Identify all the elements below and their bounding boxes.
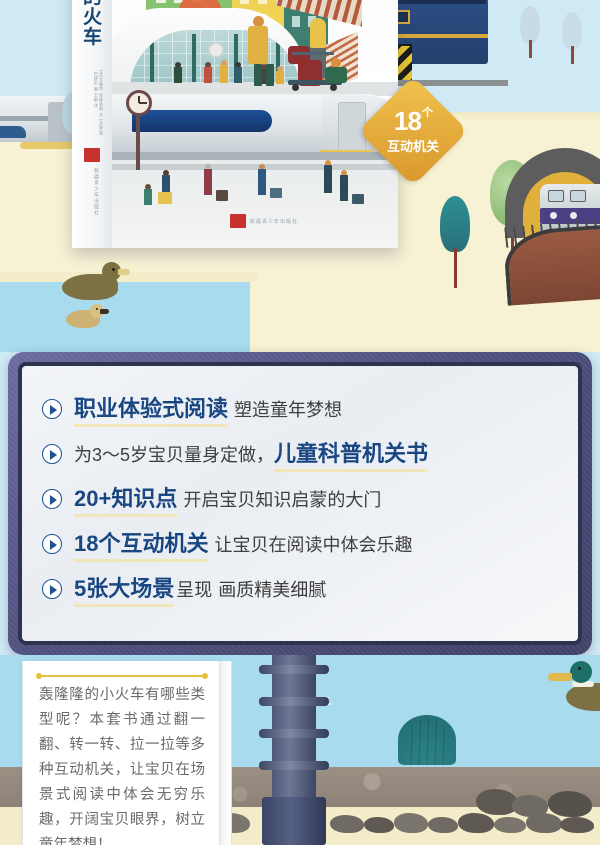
feature-item: 18个互动机关 让宝贝在阅读中体会乐趣 xyxy=(38,521,568,566)
description-card: 轰隆隆的小火车有哪些类型呢？本套书通过翻一翻、转一转、拉一拉等多种互动机关，让宝… xyxy=(22,661,220,845)
feature-highlight: 儿童科普机关书 xyxy=(274,436,428,472)
cover-publisher-text: 新疆青少年出版社 xyxy=(250,218,298,225)
book-spine-title: 的 火车 xyxy=(78,0,108,48)
tree-icon xyxy=(562,12,582,64)
arrow-circle-icon xyxy=(42,444,62,464)
book-cover: 的 火车 [法]文森特·库维利耶 文 [法]罗南·巴德尔 图 王娟 译 新疆青少… xyxy=(72,0,398,248)
feature-item: 5张大场景 呈现 画质精美细腻 xyxy=(38,566,568,611)
card-side-strip xyxy=(220,661,232,845)
arrow-circle-icon xyxy=(42,399,62,419)
feature-rest: 画质精美细腻 xyxy=(218,576,326,602)
arrow-circle-icon xyxy=(42,534,62,554)
feature-prefix: 为3～5岁宝贝量身定做， xyxy=(74,441,274,467)
book-spine: 的 火车 [法]文森特·库维利耶 文 [法]罗南·巴德尔 图 王娟 译 新疆青少… xyxy=(72,0,112,248)
feature-item: 20+知识点 开启宝贝知识启蒙的大门 xyxy=(38,476,568,521)
tree-icon xyxy=(440,196,470,288)
feature-highlight: 20+知识点 xyxy=(74,481,177,517)
pillar-base xyxy=(262,797,326,845)
arrow-circle-icon xyxy=(42,579,62,599)
bear-reading-logo-icon xyxy=(230,214,246,228)
features-panel-content: 职业体验式阅读 塑造童年梦想 为3～5岁宝贝量身定做， 儿童科普机关书 20+知… xyxy=(18,362,582,645)
book-spine-credits: [法]文森特·库维利耶 文 [法]罗南·巴德尔 图 王娟 译 xyxy=(80,70,104,136)
mother-duck-icon xyxy=(62,262,128,300)
book-spine-publisher: 新疆青少年出版社 xyxy=(84,168,100,238)
badge-unit: 个 xyxy=(422,107,432,119)
feature-rest: 开启宝贝知识启蒙的大门 xyxy=(183,486,381,512)
description-text: 轰隆隆的小火车有哪些类型呢？本套书通过翻一翻、转一转、拉一拉等多种互动机关，让宝… xyxy=(39,683,205,845)
water-plant-icon xyxy=(398,715,456,765)
badge-label: 互动机关 xyxy=(387,136,439,155)
feature-item: 职业体验式阅读 塑造童年梦想 xyxy=(38,386,568,431)
feature-rest: 塑造童年梦想 xyxy=(234,396,342,422)
hero-scene: 的 火车 [法]文森特·库维利耶 文 [法]罗南·巴德尔 图 王娟 译 新疆青少… xyxy=(0,0,600,352)
feature-highlight: 5张大场景 xyxy=(74,571,174,607)
feature-highlight: 职业体验式阅读 xyxy=(74,391,228,427)
platform-clock-icon xyxy=(126,90,152,116)
duckling-icon xyxy=(66,304,112,328)
features-panel: 职业体验式阅读 塑造童年梦想 为3～5岁宝贝量身定做， 儿童科普机关书 20+知… xyxy=(8,352,592,655)
station-clock-icon xyxy=(208,42,224,58)
badge-number: 18 xyxy=(394,106,421,136)
mallard-duck-icon xyxy=(548,661,600,711)
arrow-circle-icon xyxy=(42,489,62,509)
gold-divider-icon xyxy=(39,675,205,677)
tree-icon xyxy=(520,6,540,58)
feature-highlight: 18个互动机关 xyxy=(74,526,208,562)
bear-reading-logo-icon xyxy=(84,148,100,162)
feature-rest: 让宝贝在阅读中体会乐趣 xyxy=(214,531,412,557)
interactive-mechanisms-badge: 18个 互动机关 xyxy=(358,76,468,186)
feature-item: 为3～5岁宝贝量身定做， 儿童科普机关书 xyxy=(38,431,568,476)
promo-page: 的 火车 [法]文森特·库维利耶 文 [法]罗南·巴德尔 图 王娟 译 新疆青少… xyxy=(0,0,600,845)
feature-middle: 呈现 xyxy=(176,576,212,602)
